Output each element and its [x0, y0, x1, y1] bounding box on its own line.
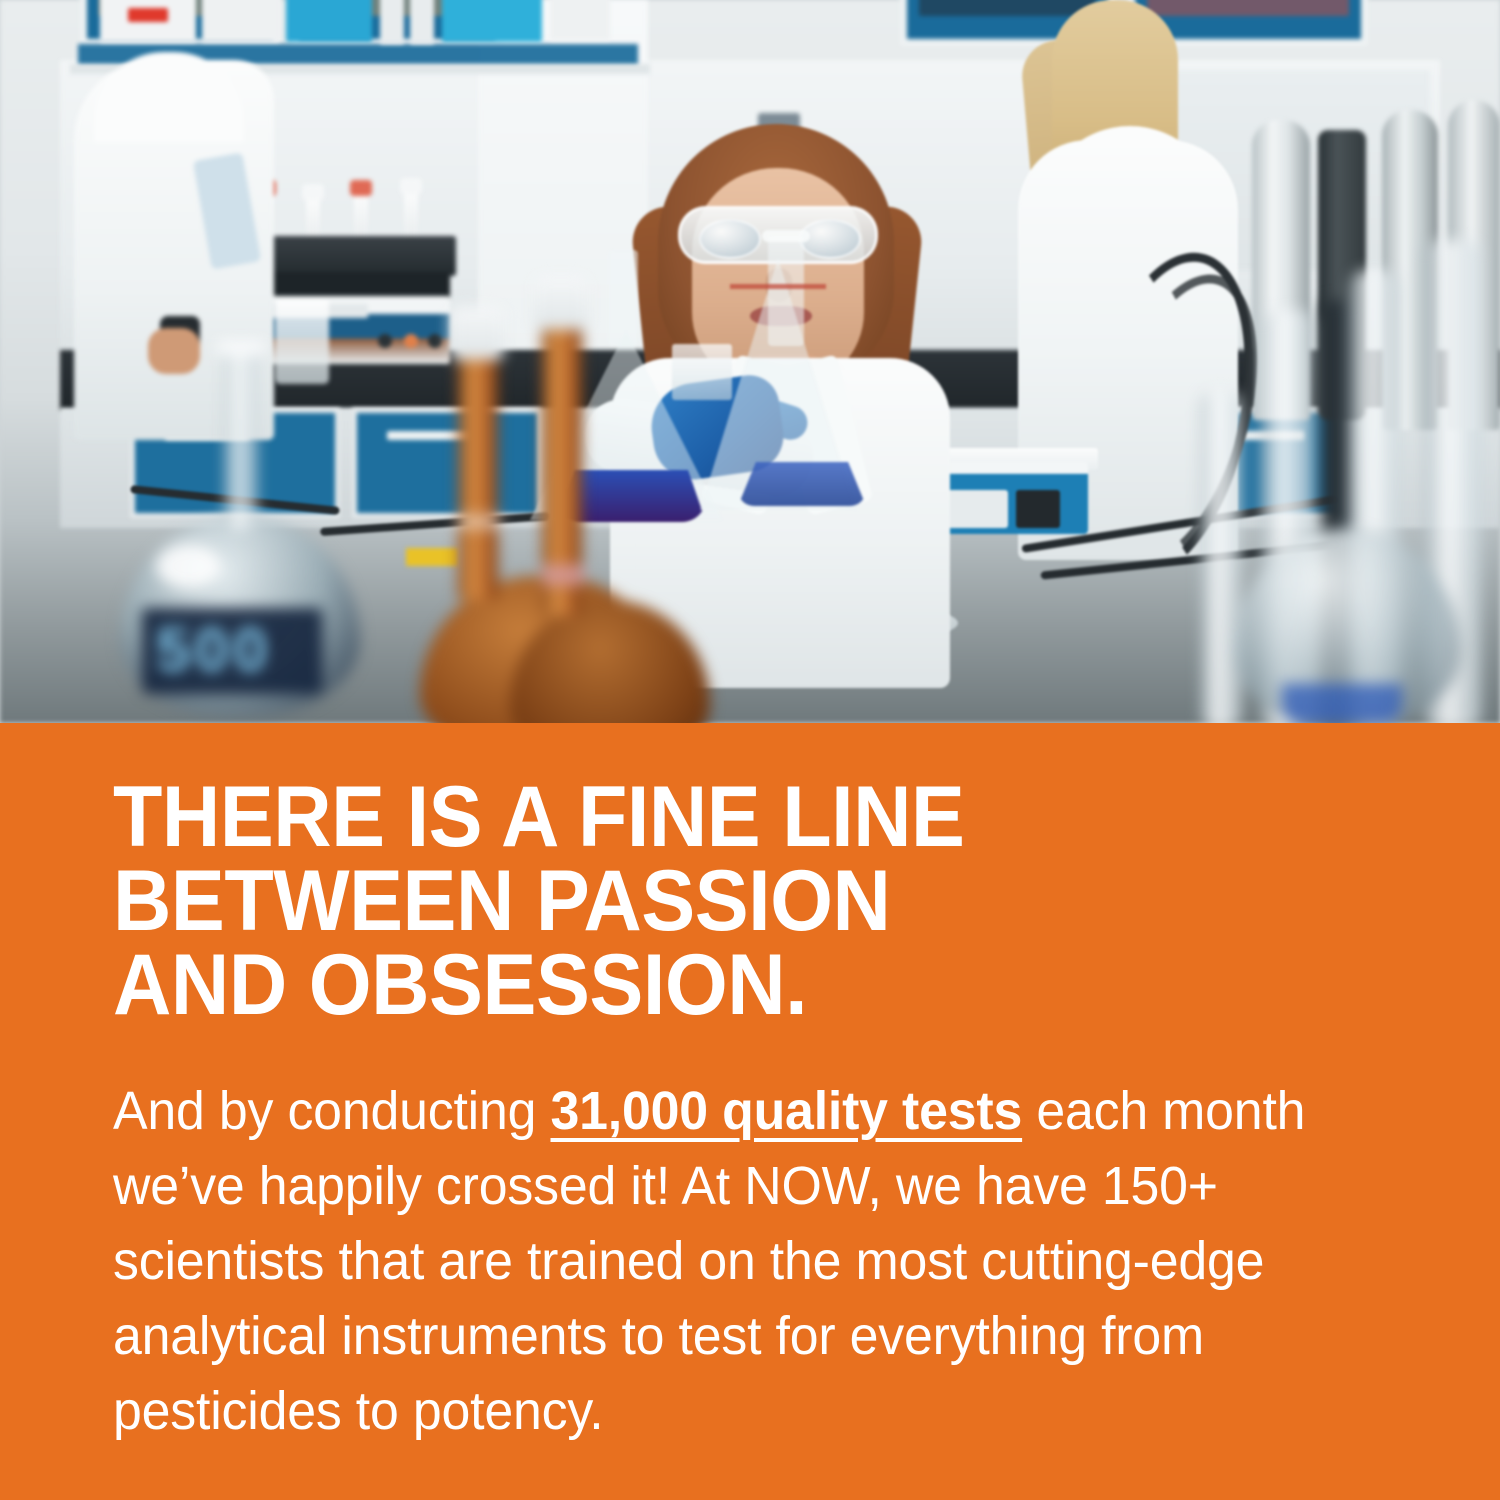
- flask-graduation-ring: [456, 514, 502, 530]
- lab-photo: 500: [0, 0, 1500, 723]
- body-copy: And by conducting 31,000 quality tests e…: [113, 1074, 1351, 1449]
- flask-stopper: [450, 306, 504, 360]
- flask-label: [542, 564, 584, 586]
- page-title: THERE IS A FINE LINE BETWEEN PASSION AND…: [113, 775, 1335, 1027]
- volumetric-flask-500: 500: [120, 420, 360, 720]
- flask-neck: [1200, 390, 1242, 723]
- flask-neck: [224, 350, 258, 530]
- flask-volume-label: 500: [156, 616, 316, 686]
- orange-message-panel: THERE IS A FINE LINE BETWEEN PASSION AND…: [0, 723, 1500, 1500]
- glass-highlight: [156, 544, 220, 588]
- body-part-one: And by conducting: [113, 1081, 550, 1141]
- foreground-glassware: 500: [0, 0, 1500, 723]
- flask-stopper: [534, 276, 588, 330]
- quality-tests-highlight: 31,000 quality tests: [550, 1081, 1022, 1141]
- blue-liquid: [1282, 684, 1402, 723]
- advertisement-card: 500 THERE IS A FINE LINE BETWEEN PASSION…: [0, 0, 1500, 1500]
- flask-rim: [216, 340, 266, 356]
- amber-volumetric-flasks: [430, 300, 690, 723]
- amber-flask-neck: [458, 350, 498, 600]
- clear-volumetric-flasks: [1190, 60, 1500, 720]
